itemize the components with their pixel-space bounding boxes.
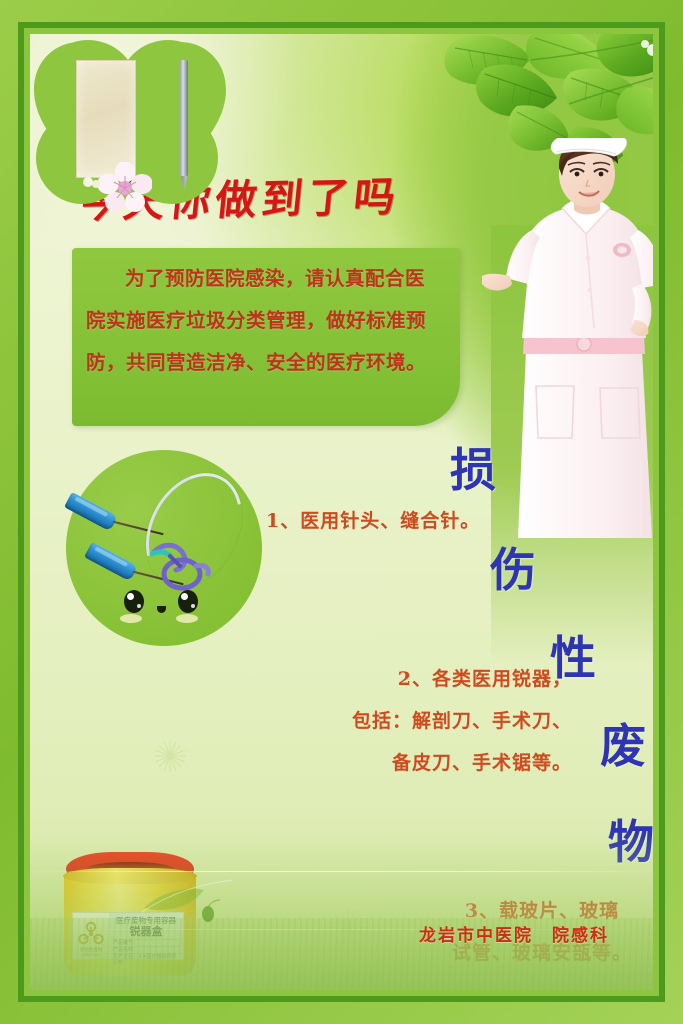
horizon-line: [30, 871, 653, 872]
nurse-photo: [482, 138, 653, 544]
mouth-icon: [157, 606, 166, 613]
category-char-1: 损: [450, 434, 496, 500]
needles-circle-illustration: [66, 450, 262, 646]
blush-icon: [120, 614, 142, 623]
leaf-icon: [616, 87, 653, 135]
statement-text: 为了预防医院感染，请认真配合医院实施医疗垃圾分类管理，做好标准预防，共同营造洁净…: [86, 258, 444, 384]
dandelion-silhouette-icon: [148, 734, 192, 782]
footer-credit: 龙岩市中医院 院感科: [419, 921, 609, 946]
blush-icon: [176, 614, 198, 623]
needle-holder-icon: [146, 538, 216, 598]
glass-slide-icon: [76, 60, 136, 178]
eye-icon: [124, 590, 144, 613]
statement-box: 为了预防医院感染，请认真配合医院实施医疗垃圾分类管理，做好标准预防，共同营造洁净…: [72, 248, 460, 426]
nurse-uniform-skirt: [518, 350, 652, 538]
list-item-2-line-2: 包括：解剖刀、手术刀、: [252, 700, 572, 742]
list-item-1: 1、医用针头、缝合针。: [266, 500, 480, 542]
poster-root: 今天你做到了吗 为了预防医院感染，请认真配合医院实施医疗垃圾分类管理，做好标准预…: [0, 0, 683, 1024]
category-char-4: 废: [600, 710, 646, 776]
category-char-2: 伤: [490, 534, 536, 600]
list-item-2-line-1: 2、各类医用锐器，: [252, 658, 572, 700]
list-item-2: 2、各类医用锐器， 包括：解剖刀、手术刀、 备皮刀、手术锯等。: [252, 658, 572, 784]
nurse-hand: [482, 274, 512, 291]
list-item-2-line-3: 备皮刀、手术锯等。: [252, 742, 572, 784]
seed-icon: [194, 898, 222, 928]
small-pebble-icon: [82, 174, 102, 193]
pink-blossom-icon: [98, 162, 152, 216]
scalpel-blade-icon: [180, 60, 188, 178]
poster-canvas: 今天你做到了吗 为了预防医院感染，请认真配合医院实施医疗垃圾分类管理，做好标准预…: [30, 34, 653, 990]
